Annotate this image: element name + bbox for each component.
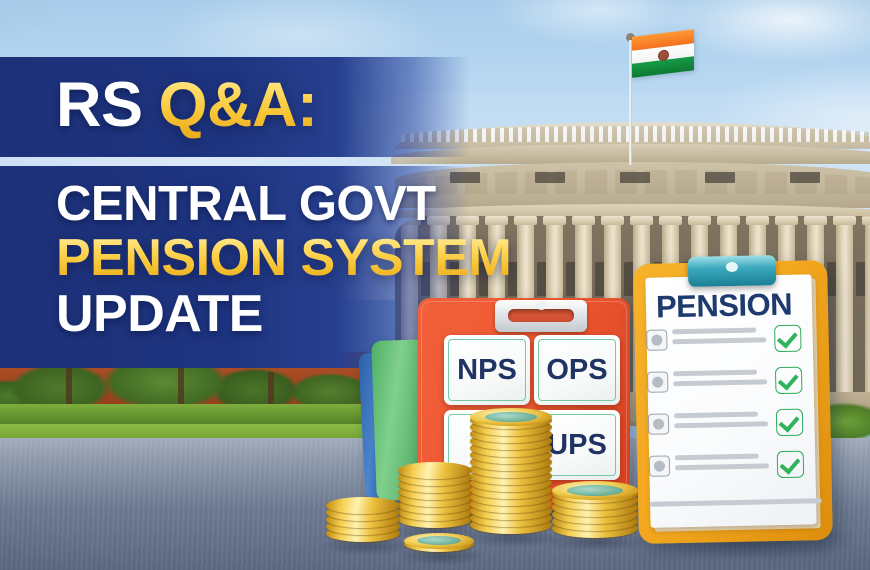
- yellow-clipboard-clip: [688, 255, 777, 287]
- headline-line-3: PENSION SYSTEM: [56, 232, 511, 284]
- check-mark-icon[interactable]: [774, 325, 802, 353]
- coin: [398, 462, 472, 479]
- headline-divider: [0, 157, 462, 166]
- check-mark-icon[interactable]: [776, 409, 804, 437]
- text-line: [672, 328, 756, 335]
- headline-rs: RS: [56, 70, 143, 140]
- headline-line-4: UPDATE: [56, 288, 263, 340]
- checkbox-icon[interactable]: [648, 413, 669, 434]
- check-mark-icon[interactable]: [777, 451, 805, 479]
- checkbox-icon[interactable]: [646, 329, 667, 350]
- pension-checklist: [646, 322, 826, 516]
- tile-nps[interactable]: NPS: [444, 335, 530, 405]
- headline-qa: Q&A:: [159, 70, 318, 140]
- poster-canvas: RSQ&A: CENTRAL GOVT PENSION SYSTEM UPDAT…: [0, 0, 870, 570]
- text-line: [673, 379, 767, 386]
- checklist-row[interactable]: [648, 406, 825, 452]
- text-line: [675, 454, 759, 461]
- headline-line-1: RSQ&A:: [56, 74, 318, 137]
- coin-face: [470, 408, 552, 426]
- text-line: [672, 337, 766, 344]
- coin: [326, 497, 400, 514]
- checklist-row[interactable]: [647, 364, 824, 410]
- coin-face: [552, 481, 638, 500]
- checklist-row[interactable]: [649, 448, 826, 494]
- text-line: [675, 463, 769, 470]
- check-mark-icon[interactable]: [775, 367, 803, 395]
- tile-ups-label: UPS: [547, 429, 607, 462]
- tile-ops-label: OPS: [546, 354, 607, 387]
- headline-line-2: CENTRAL GOVT: [56, 180, 436, 229]
- pension-heading: PENSION: [656, 287, 793, 326]
- checkbox-icon[interactable]: [647, 371, 668, 392]
- tile-nps-label: NPS: [457, 354, 517, 387]
- text-line: [650, 498, 822, 507]
- indian-flag-icon: [632, 29, 694, 78]
- checklist-row[interactable]: [646, 322, 823, 368]
- red-clipboard-clip: [495, 300, 587, 332]
- coin-face: [404, 533, 474, 549]
- checkbox-icon[interactable]: [649, 455, 670, 476]
- text-line: [673, 370, 757, 377]
- text-line: [674, 421, 768, 428]
- tile-ops[interactable]: OPS: [534, 335, 620, 405]
- text-line: [674, 412, 758, 419]
